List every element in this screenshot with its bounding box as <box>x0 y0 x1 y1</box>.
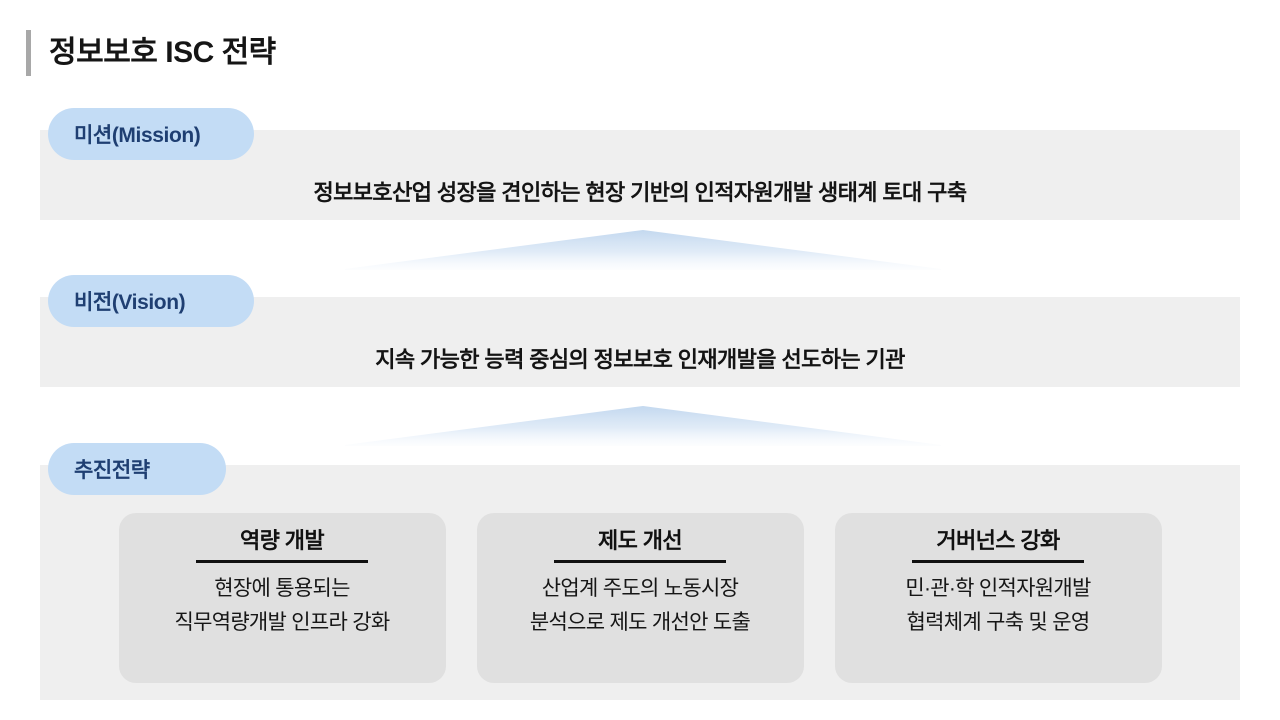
strategy-card-divider <box>554 560 726 563</box>
section-mission: 미션(Mission) 정보보호산업 성장을 견인하는 현장 기반의 인적자원개… <box>40 108 1240 220</box>
strategy-card: 제도 개선 산업계 주도의 노동시장 분석으로 제도 개선안 도출 <box>477 513 804 683</box>
connector-vision-to-strategy-icon <box>345 400 941 446</box>
strategy-card-divider <box>912 560 1084 563</box>
strategy-card-divider <box>196 560 368 563</box>
strategy-card: 거버넌스 강화 민·관·학 인적자원개발 협력체계 구축 및 운영 <box>835 513 1162 683</box>
section-strategy: 추진전략 역량 개발 현장에 통용되는 직무역량개발 인프라 강화 제도 개선 … <box>40 443 1240 700</box>
mission-pill-label: 미션(Mission) <box>48 108 254 160</box>
strategy-card-line-1: 산업계 주도의 노동시장 <box>542 572 738 606</box>
strategy-card-line-2: 직무역량개발 인프라 강화 <box>174 606 389 640</box>
strategy-card-line-2: 분석으로 제도 개선안 도출 <box>530 606 750 640</box>
vision-statement: 지속 가능한 능력 중심의 정보보호 인재개발을 선도하는 기관 <box>40 342 1240 374</box>
strategy-card-list: 역량 개발 현장에 통용되는 직무역량개발 인프라 강화 제도 개선 산업계 주… <box>40 513 1240 683</box>
connector-mission-to-vision-icon <box>345 224 941 270</box>
page-title: 정보보호 ISC 전략 <box>49 38 276 68</box>
strategy-pill-label: 추진전략 <box>48 443 226 495</box>
strategy-card-title: 거버넌스 강화 <box>936 527 1059 555</box>
mission-statement: 정보보호산업 성장을 견인하는 현장 기반의 인적자원개발 생태계 토대 구축 <box>40 175 1240 207</box>
vision-pill-label: 비전(Vision) <box>48 275 254 327</box>
strategy-card-title: 역량 개발 <box>240 527 324 555</box>
strategy-card-line-1: 현장에 통용되는 <box>214 572 349 606</box>
page-title-row: 정보보호 ISC 전략 <box>26 28 276 78</box>
strategy-card-line-2: 협력체계 구축 및 운영 <box>907 606 1090 640</box>
strategy-card-line-1: 민·관·학 인적자원개발 <box>905 572 1090 606</box>
title-accent-bar <box>26 30 31 76</box>
strategy-diagram-page: 정보보호 ISC 전략 미션(Mission) 정보보호산업 성장을 견인하는 … <box>0 0 1280 720</box>
strategy-card: 역량 개발 현장에 통용되는 직무역량개발 인프라 강화 <box>119 513 446 683</box>
section-vision: 비전(Vision) 지속 가능한 능력 중심의 정보보호 인재개발을 선도하는… <box>40 275 1240 387</box>
strategy-card-title: 제도 개선 <box>598 527 682 555</box>
